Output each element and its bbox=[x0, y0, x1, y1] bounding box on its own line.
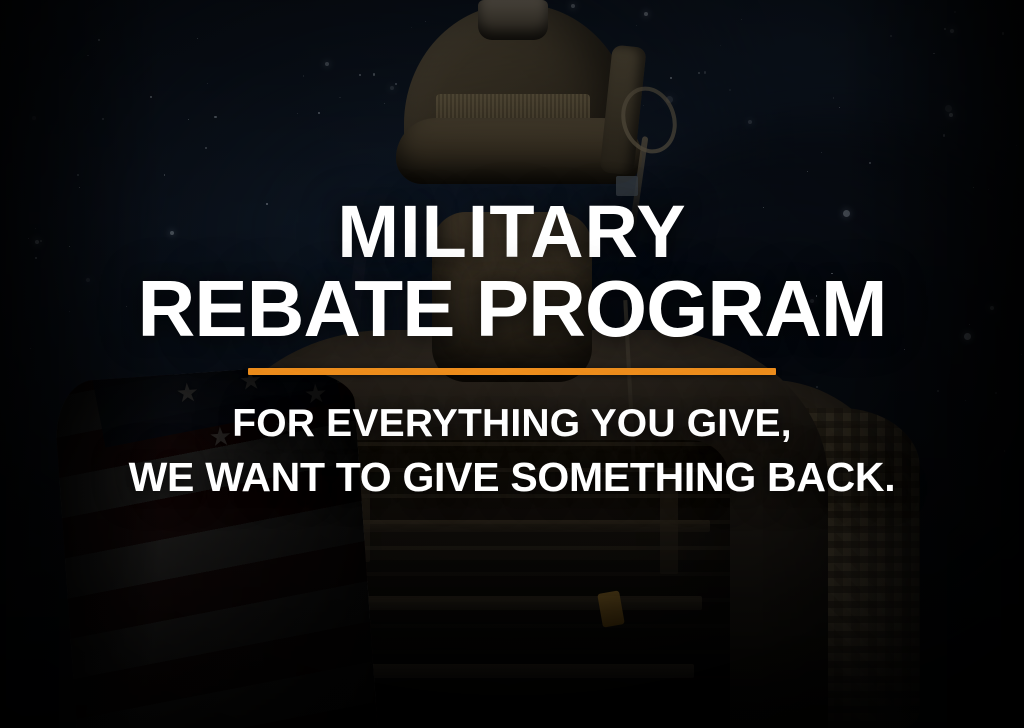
military-rebate-banner: ★ ★ ★ ★ ★ MILITARY REBATE PROGRAM FOR EV… bbox=[0, 0, 1024, 728]
orange-accent-rule bbox=[248, 368, 776, 375]
subheadline: FOR EVERYTHING YOU GIVE, WE WANT TO GIVE… bbox=[129, 401, 896, 501]
subheadline-line-2: WE WANT TO GIVE SOMETHING BACK. bbox=[129, 453, 896, 501]
subheadline-line-1: FOR EVERYTHING YOU GIVE, bbox=[129, 401, 896, 447]
page-title: MILITARY REBATE PROGRAM bbox=[129, 198, 896, 346]
headline-line-2: REBATE PROGRAM bbox=[129, 272, 896, 346]
banner-content: MILITARY REBATE PROGRAM FOR EVERYTHING Y… bbox=[0, 0, 1024, 728]
headline-block: MILITARY REBATE PROGRAM FOR EVERYTHING Y… bbox=[129, 198, 896, 501]
headline-line-1: MILITARY bbox=[129, 198, 896, 266]
